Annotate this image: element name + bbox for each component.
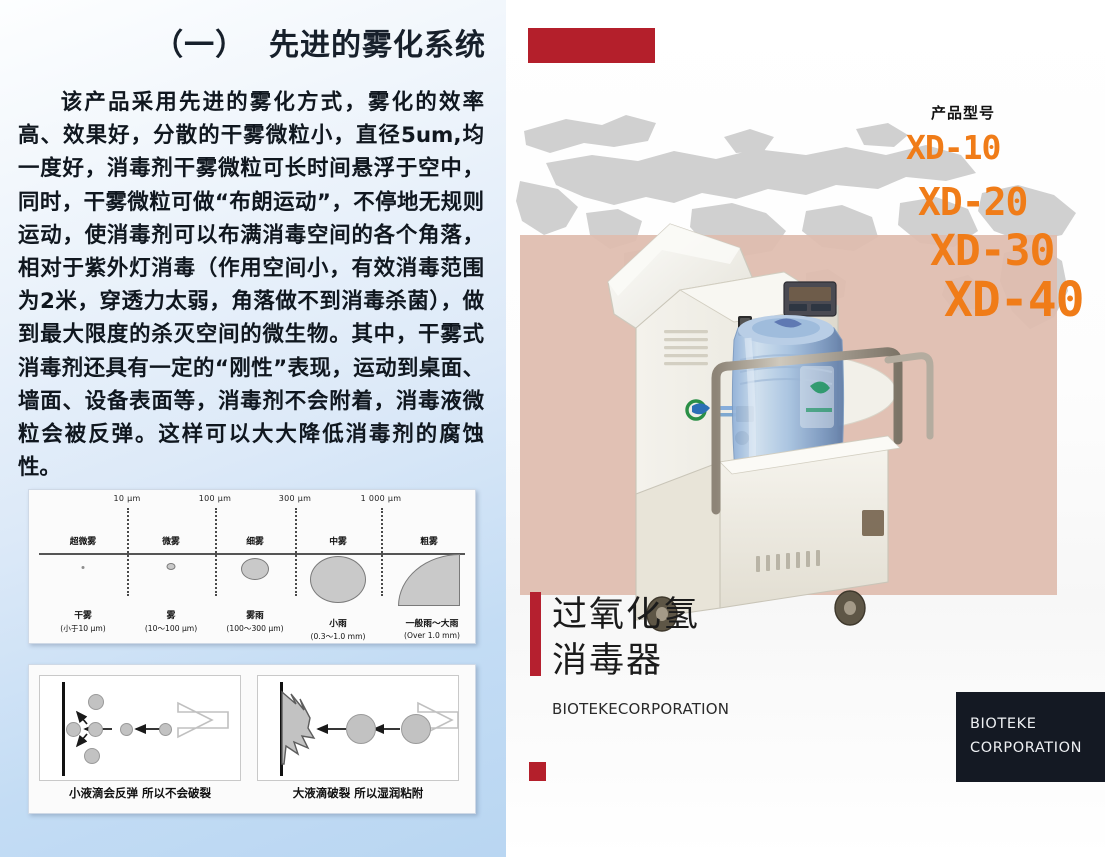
model-xd-10: XD-10 [906,128,1000,167]
mist-category-label: 粗雾 [420,534,438,547]
scale-tick-label: 10 μm [113,494,140,503]
mist-name-label: 干雾 [74,608,92,621]
mist-range-label: (10～100 μm) [145,623,197,634]
scale-divider-10um [127,508,129,596]
right-product-panel: 产品型号 XD-10 XD-20 XD-30 XD-40 过氧化氢 消毒器 BI… [506,0,1105,857]
product-title: 过氧化氢 消毒器 [552,592,852,684]
mist-size-scale-figure: 10 μm 100 μm 300 μm 1 000 μm 超微雾 微雾 细雾 中… [28,489,476,644]
droplet-blob-heavyrain [398,554,460,606]
mist-name-label: 雾 [167,608,176,621]
model-label: 产品型号 [931,102,995,123]
droplet [84,748,100,764]
mist-category-label: 细雾 [246,534,264,547]
mist-range-label: (Over 1.0 mm) [404,631,460,640]
company-logo-box: BIOTEKE CORPORATION [956,692,1105,782]
droplet-blob-drizzle [241,558,269,580]
mist-name-label: 一般雨～大雨 [406,616,459,629]
scale-axis-line [39,553,465,555]
mist-category-label: 微雾 [162,534,180,547]
mist-category-label: 超微雾 [70,534,96,547]
mist-name-label: 小雨 [329,616,347,629]
droplet [159,723,172,736]
body-paragraph: 该产品采用先进的雾化方式，雾化的效率高、效果好，分散的干雾微粒小，直径5um,均… [18,86,484,484]
droplet-blob-ultrafine [82,566,85,569]
red-accent-square [529,762,546,781]
large-droplet-panel [257,675,459,781]
droplet [66,722,81,737]
droplet-large [401,714,431,744]
device-display-panel [784,282,836,316]
droplet [88,694,104,710]
model-xd-30: XD-30 [930,226,1054,276]
scale-tick-label: 100 μm [199,494,232,503]
scale-divider-100um [215,508,217,596]
red-accent-vertical-bar [530,592,541,676]
model-xd-20: XD-20 [918,180,1027,224]
left-content-panel: （一） 先进的雾化系统 该产品采用先进的雾化方式，雾化的效率高、效果好，分散的干… [0,0,506,857]
mist-range-label: (0.3～1.0 mm) [311,631,366,642]
product-device-image [588,210,988,650]
droplet-caption-left: 小液滴会反弹 所以不会破裂 [69,785,211,801]
droplet [88,722,103,737]
droplet-large [346,714,376,744]
scale-tick-label: 1 000 μm [361,494,402,503]
small-droplet-panel [39,675,241,781]
disinfector-illustration [588,210,988,650]
droplet-blob-fine [167,563,176,570]
droplet-blob-lightrain [310,556,366,603]
poster-page: （一） 先进的雾化系统 该产品采用先进的雾化方式，雾化的效率高、效果好，分散的干… [0,0,1105,857]
logo-line-2: CORPORATION [970,740,1082,756]
red-accent-bar-top [528,28,655,63]
droplet-caption-right: 大液滴破裂 所以湿润粘附 [293,785,424,801]
scale-divider-300um [295,508,297,596]
logo-line-1: BIOTEKE [970,716,1037,732]
mist-range-label: (100～300 μm) [226,623,283,634]
product-subtitle: BIOTEKECORPORATION [552,700,729,718]
mist-name-label: 雾雨 [246,608,264,621]
mist-range-label: (小于10 μm) [60,623,105,634]
model-xd-40: XD-40 [944,272,1084,328]
droplet [120,723,133,736]
scale-divider-1000um [381,508,383,596]
droplet-behaviour-figure: 小液滴会反弹 所以不会破裂 大液滴破裂 所以湿润粘附 [28,664,476,814]
scale-tick-label: 300 μm [279,494,312,503]
page-title: （一） 先进的雾化系统 [18,28,486,64]
product-title-line1: 过氧化氢 [552,592,852,638]
mist-category-label: 中雾 [329,534,347,547]
product-title-line2: 消毒器 [552,638,852,684]
